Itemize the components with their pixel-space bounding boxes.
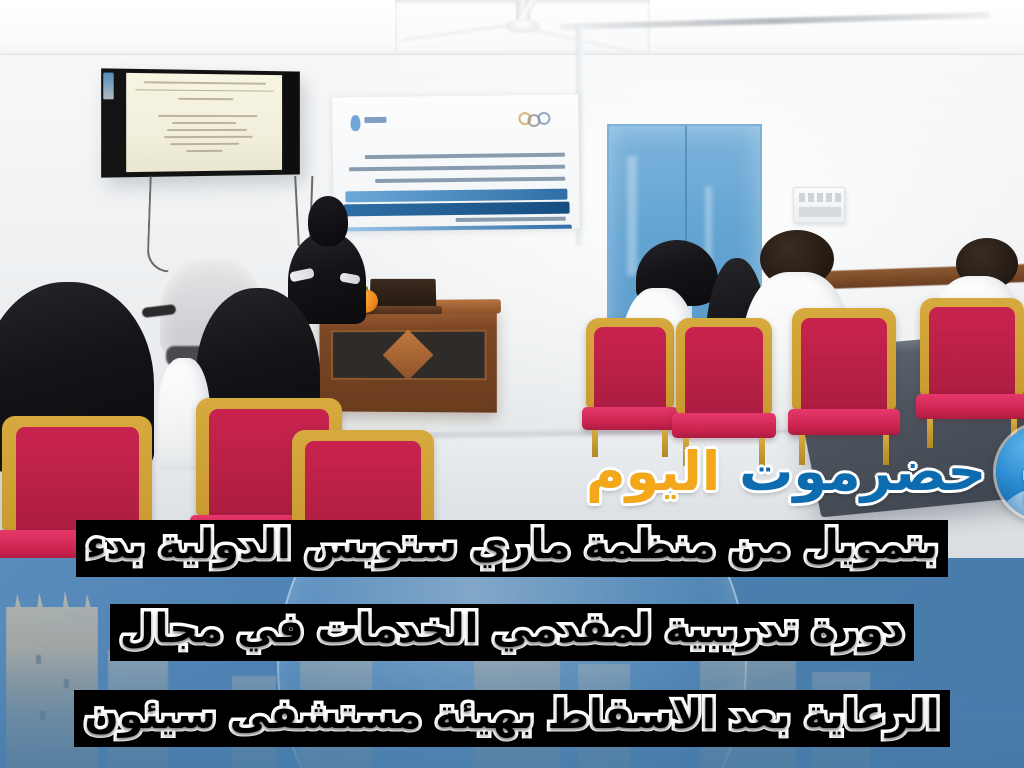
atmospheric-haze	[0, 648, 1024, 768]
banquet-chair	[920, 298, 1024, 430]
banner-rings-icon	[518, 112, 556, 128]
desk-feet	[329, 400, 486, 409]
banquet-chair	[2, 416, 152, 560]
tv-corner-sticker	[103, 73, 113, 100]
banquet-chair	[292, 430, 434, 560]
desk-front-panel	[331, 330, 486, 381]
desk-diamond-inlay	[383, 330, 434, 381]
outlet-name-secondary: اليوم	[586, 440, 720, 503]
presentation-slide	[126, 73, 282, 172]
logo-arabic-letter: ح	[996, 427, 1024, 520]
news-image-card: ح حضرموت اليوم بتمويل من منظمة ماري ستوب…	[0, 0, 1024, 768]
lower-banner-background	[0, 558, 1024, 768]
tv-bezel-right	[284, 71, 300, 174]
banner-logo-icon	[350, 115, 360, 131]
ceiling-fan-hub	[506, 19, 540, 33]
wall-mounted-tv	[101, 68, 300, 177]
outlet-name-primary: حضرموت	[739, 440, 986, 503]
banquet-chair	[586, 318, 674, 440]
tv-cable	[146, 176, 171, 273]
outlet-watermark[interactable]: ح حضرموت اليوم	[586, 424, 1024, 520]
banner-logo-text	[364, 117, 386, 123]
outlet-name: حضرموت اليوم	[586, 445, 986, 499]
event-banner	[332, 95, 580, 232]
hadramout-alyoum-logo-icon[interactable]: ح	[996, 424, 1024, 520]
presenter-head	[308, 196, 348, 246]
light-switch-panel	[793, 187, 845, 223]
